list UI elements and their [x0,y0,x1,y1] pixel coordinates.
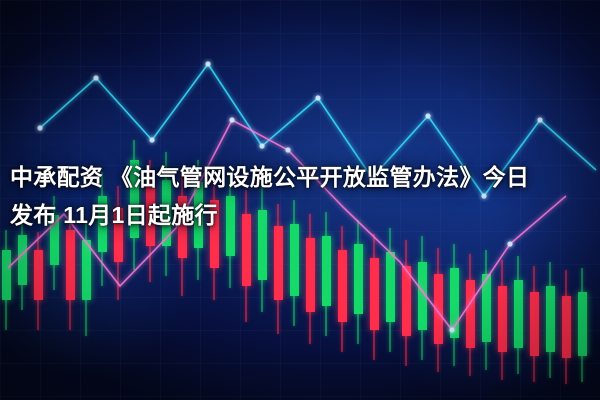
news-banner-image: 中承配资 《油气管网设施公平开放监管办法》今日 发布 11月1日起施行 [0,0,600,400]
headline-line-1: 中承配资 《油气管网设施公平开放监管办法》今日 [10,158,590,196]
headline-text: 中承配资 《油气管网设施公平开放监管办法》今日 发布 11月1日起施行 [10,158,590,234]
headline-line-2: 发布 11月1日起施行 [10,196,590,234]
